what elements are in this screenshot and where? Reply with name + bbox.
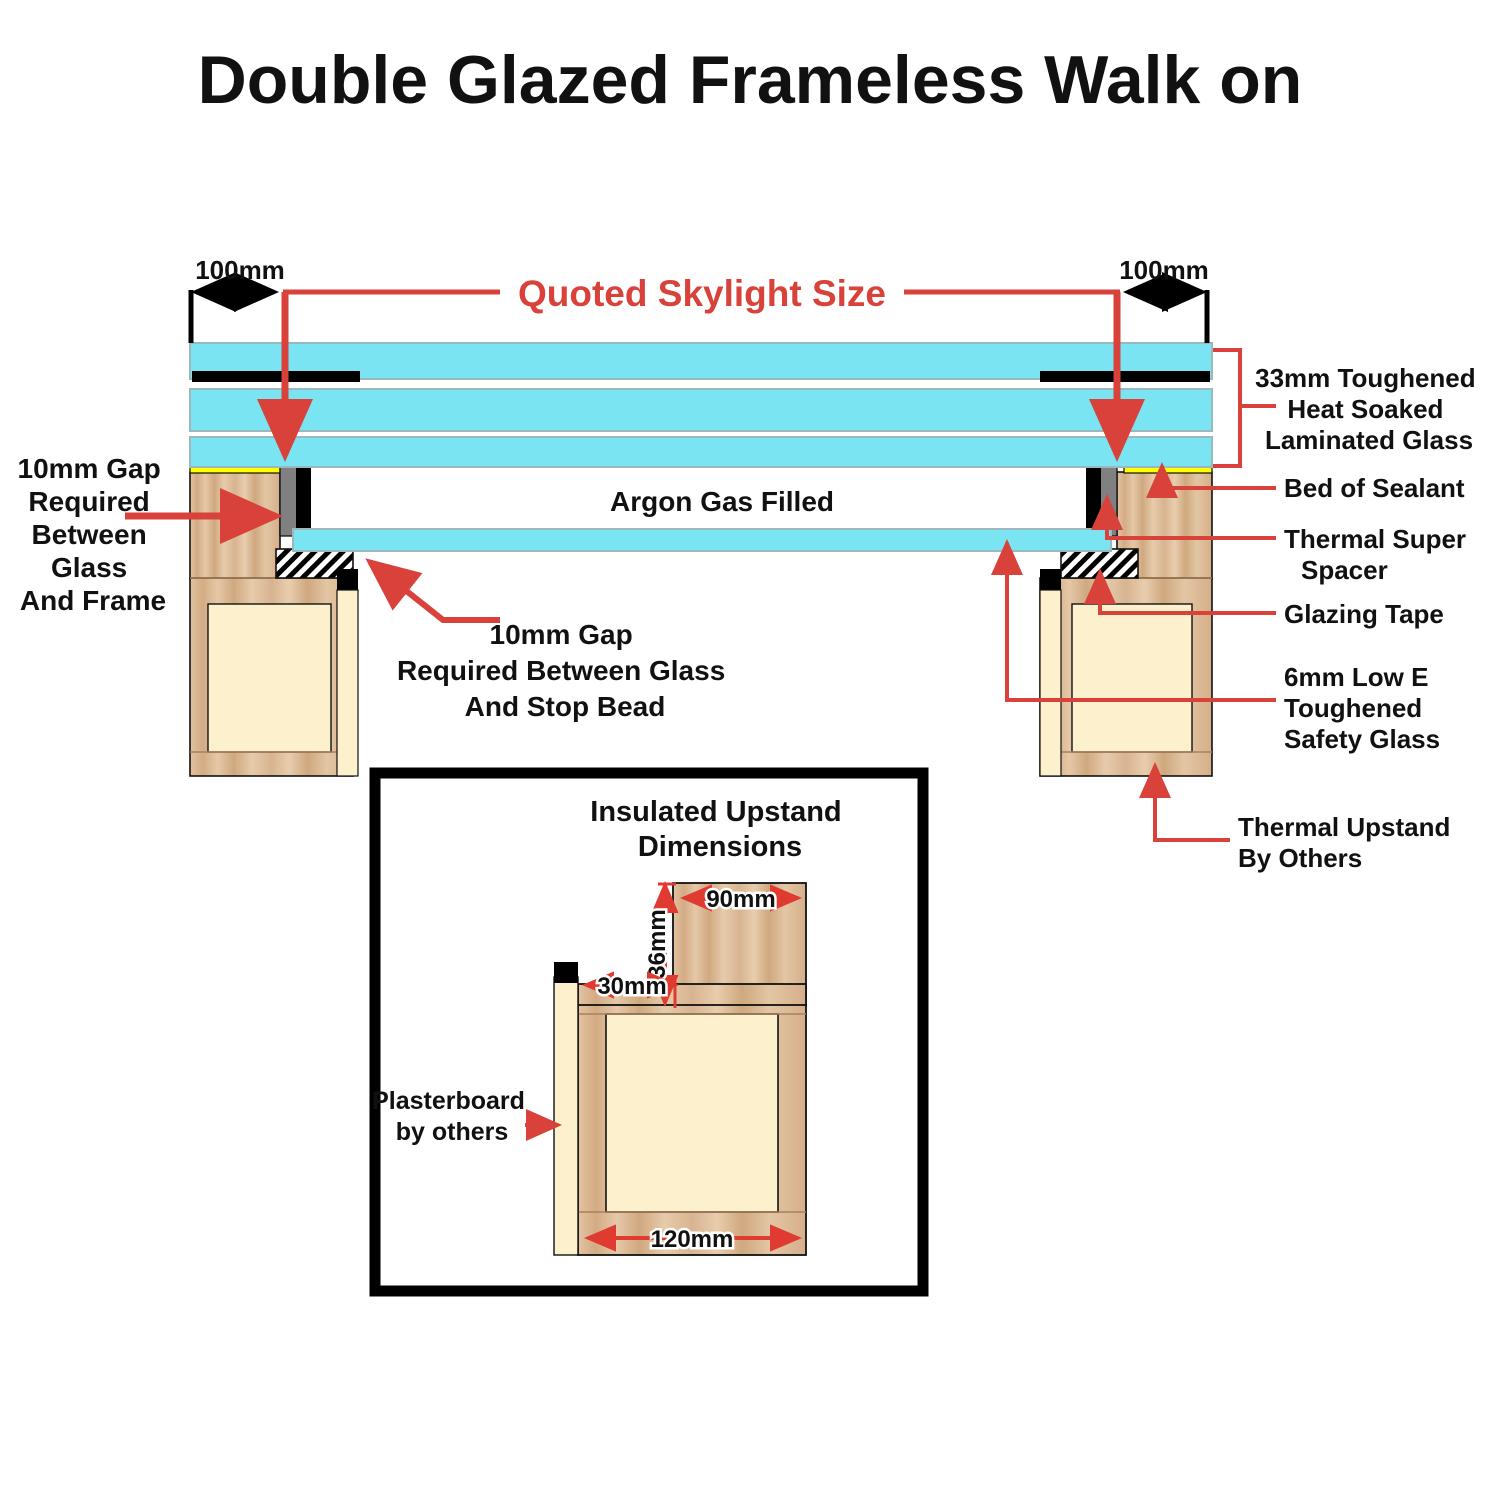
callout-thermal-upstand-line-0: Thermal Upstand xyxy=(1238,812,1450,842)
quoted-skylight-size-label: Quoted Skylight Size xyxy=(518,273,886,314)
left-upstand-upper-wood xyxy=(190,472,280,579)
right-upstand-insulation-core xyxy=(1072,604,1192,752)
callout-thermal-super-spacer-line-1: Spacer xyxy=(1301,555,1388,585)
inset-plasterboard-cap xyxy=(554,962,578,983)
technical-drawing: Double Glazed Frameless Walk on xyxy=(0,0,1500,1500)
inset-dim-120mm-label: 120mm xyxy=(651,1226,734,1253)
left-100mm-label: 100mm xyxy=(195,255,285,285)
callout-stop-bead-line-0: 10mm Gap xyxy=(490,619,633,650)
callout-left-gap-line-1: Required xyxy=(28,486,149,517)
callout-low-e-glass-line-1: Toughened xyxy=(1284,693,1422,723)
inset-dim-30mm-label: 30mm xyxy=(597,973,666,1000)
callout-low-e-glass-text: 6mm Low E Toughened Safety Glass xyxy=(1284,662,1440,754)
glass-pane-bottom xyxy=(190,437,1212,467)
inset-title-line-1: Dimensions xyxy=(638,831,802,863)
callout-left-gap-line-2: Between xyxy=(32,519,147,550)
callout-laminated-glass-line-2: Laminated Glass xyxy=(1265,425,1473,455)
callout-thermal-super-spacer-line-0: Thermal Super xyxy=(1284,524,1466,554)
right-plasterboard-cap xyxy=(1040,569,1061,592)
callout-thermal-upstand-line-1: By Others xyxy=(1238,843,1362,873)
callout-stop-bead-line-1: Required Between Glass xyxy=(397,655,725,686)
callout-left-gap-text: 10mm Gap Required Between Glass And Fram… xyxy=(18,453,169,616)
right-100mm-label: 100mm xyxy=(1119,255,1209,285)
inset-dim-90mm-label: 90mm xyxy=(706,886,775,913)
right-black-interlayer-strip xyxy=(1040,371,1210,382)
inset-upstand-dimensions-panel: Insulated Upstand Dimensions 90mm 36mm xyxy=(372,773,923,1291)
inset-title-line-0: Insulated Upstand xyxy=(590,796,841,828)
left-spacer-grey xyxy=(280,466,297,536)
callout-stop-bead-line-2: And Stop Bead xyxy=(465,691,666,722)
glass-pane-middle xyxy=(190,389,1212,431)
inset-insulation-core xyxy=(606,1014,778,1212)
inset-plasterboard xyxy=(554,977,578,1255)
callout-laminated-glass-line-1: Heat Soaked xyxy=(1287,394,1443,424)
argon-gas-label: Argon Gas Filled xyxy=(610,486,834,517)
callout-low-e-glass-line-2: Safety Glass xyxy=(1284,724,1440,754)
left-black-interlayer-strip xyxy=(192,371,360,382)
callout-left-gap-line-0: 10mm Gap xyxy=(18,453,161,484)
callout-laminated-glass-line-0: 33mm Toughened xyxy=(1255,363,1476,393)
callout-left-gap-line-4: And Frame xyxy=(20,585,166,616)
callout-plasterboard-line-0: Plasterboard xyxy=(372,1087,525,1115)
inset-dim-36mm-label: 36mm xyxy=(644,909,671,978)
callout-bed-of-sealant-text: Bed of Sealant xyxy=(1284,473,1465,503)
diagram-canvas: Double Glazed Frameless Walk on xyxy=(0,0,1500,1500)
callout-laminated-glass-text: 33mm Toughened Heat Soaked Laminated Gla… xyxy=(1255,363,1483,455)
laminated-glass-stack xyxy=(190,343,1212,467)
low-e-inner-glass-pane xyxy=(293,529,1111,551)
callout-left-gap-line-3: Glass xyxy=(51,552,127,583)
callout-plasterboard-line-1: by others xyxy=(396,1118,509,1146)
callout-low-e-glass-line-0: 6mm Low E xyxy=(1284,662,1428,692)
left-plasterboard xyxy=(337,590,358,776)
page-title: Double Glazed Frameless Walk on xyxy=(198,42,1303,118)
left-upstand-insulation-core xyxy=(208,604,331,752)
callout-glazing-tape-text: Glazing Tape xyxy=(1284,599,1444,629)
right-plasterboard xyxy=(1040,590,1061,776)
left-plasterboard-cap xyxy=(337,569,358,592)
